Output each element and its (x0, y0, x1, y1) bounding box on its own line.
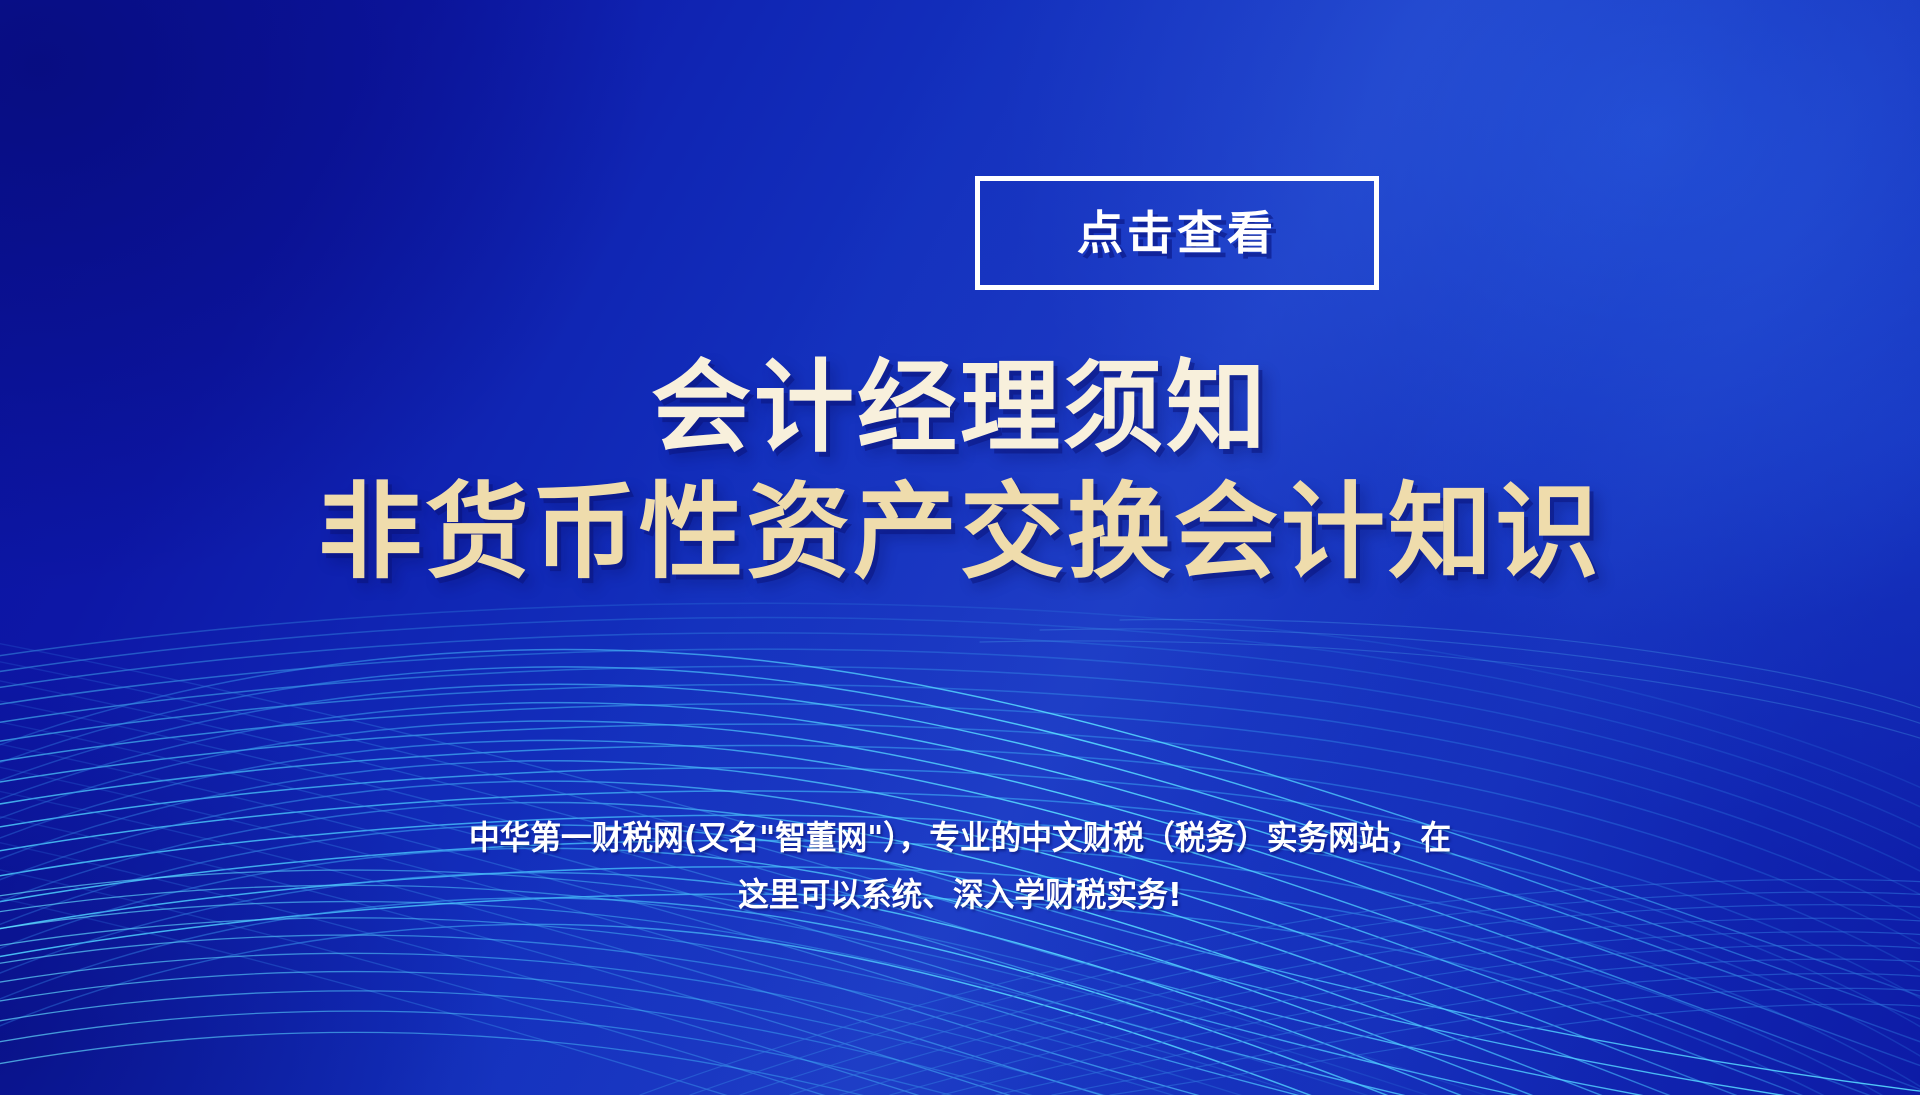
view-details-button-label: 点击查看 (1077, 210, 1277, 256)
title-line-secondary: 非货币性资产交换会计知识 (0, 474, 1920, 590)
poster-footer: 中华第一财税网(又名"智董网"），专业的中文财税（税务）实务网站，在 这里可以系… (0, 810, 1920, 924)
view-details-button[interactable]: 点击查看 (975, 176, 1379, 290)
poster-canvas: 点击查看 会计经理须知 非货币性资产交换会计知识 中华第一财税网(又名"智董网"… (0, 0, 1920, 1095)
poster-title: 会计经理须知 非货币性资产交换会计知识 (0, 352, 1920, 590)
footer-line-2: 这里可以系统、深入学财税实务! (67, 867, 1853, 924)
footer-line-1: 中华第一财税网(又名"智董网"），专业的中文财税（税务）实务网站，在 (67, 810, 1853, 867)
title-line-primary: 会计经理须知 (0, 352, 1920, 464)
